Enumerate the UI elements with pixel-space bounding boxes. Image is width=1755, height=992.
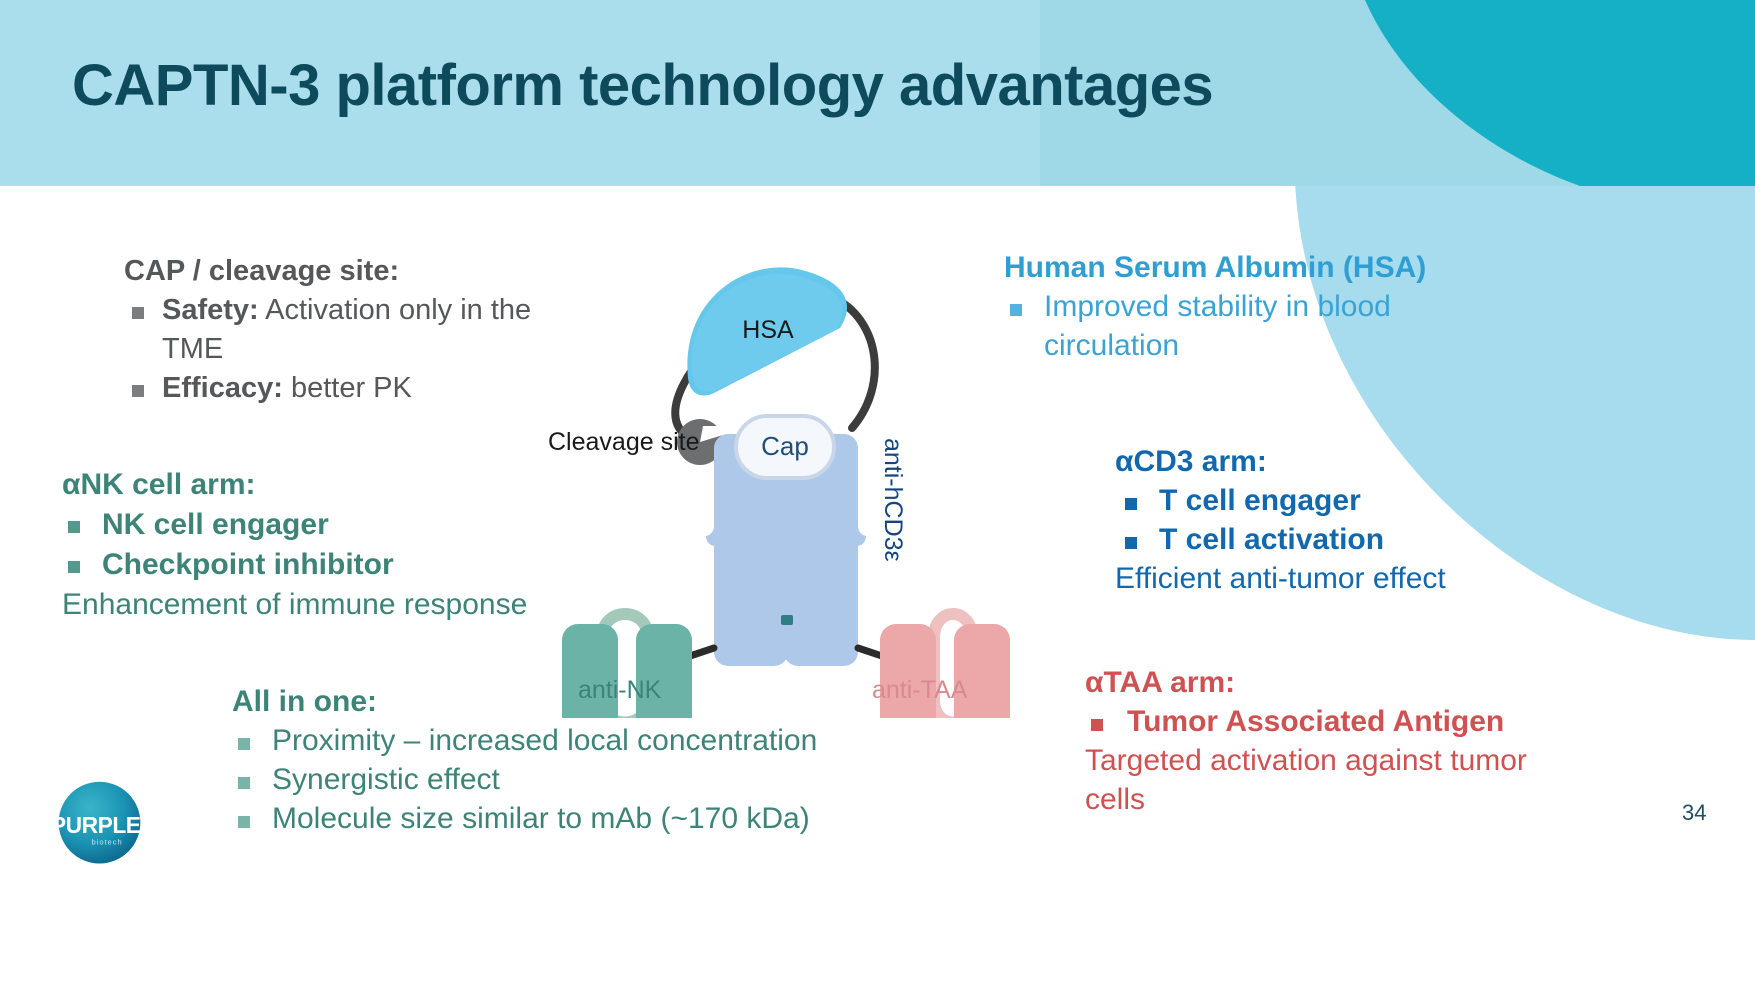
taa-heading-alpha: α	[1085, 666, 1103, 699]
taa-heading-text: TAA arm:	[1103, 666, 1235, 699]
list-item: Checkpoint inhibitor	[62, 545, 532, 585]
nk-heading: αNK cell arm:	[62, 465, 532, 505]
logo-wordmark: PURPLE	[52, 812, 141, 838]
taa-bullet-0: Tumor Associated Antigen	[1127, 705, 1504, 738]
taa-footer: Targeted activation against tumor cells	[1085, 741, 1555, 819]
anti-nk-arm-block: αNK cell arm: NK cell engager Checkpoint…	[62, 465, 532, 625]
nk-bullet-0: NK cell engager	[102, 508, 329, 541]
bullet-square-icon	[238, 777, 250, 789]
nk-bullet-list: NK cell engager Checkpoint inhibitor	[62, 505, 532, 585]
bullet-square-icon	[1010, 304, 1022, 316]
cd3-bullet-1: T cell activation	[1159, 523, 1384, 556]
list-item: Synergistic effect	[232, 760, 912, 799]
hsa-bullet-list: Improved stability in blood circulation	[1004, 287, 1474, 365]
list-item: Safety: Activation only in the TME	[124, 291, 554, 369]
anti-cd3-arm-block: αCD3 arm: T cell engager T cell activati…	[1115, 442, 1585, 598]
bullet-square-icon	[238, 738, 250, 750]
bullet-square-icon	[1091, 719, 1103, 731]
bullet-square-icon	[132, 307, 144, 319]
cd3-heading-text: CD3 arm:	[1133, 445, 1266, 478]
slide-root: CAPTN-3 platform technology advantages C…	[0, 0, 1755, 992]
page-number: 34	[1682, 800, 1706, 826]
list-item: T cell engager	[1115, 481, 1585, 520]
cap-bullet-1-bold: Efficacy:	[162, 372, 283, 404]
page-title: CAPTN-3 platform technology advantages	[72, 52, 1213, 119]
cd3-bullet-0: T cell engager	[1159, 484, 1361, 517]
nk-heading-alpha: α	[62, 468, 80, 501]
cap-label: Cap	[761, 431, 809, 461]
list-item: NK cell engager	[62, 505, 532, 545]
taa-bullet-list: Tumor Associated Antigen	[1085, 702, 1555, 741]
nk-footer: Enhancement of immune response	[62, 585, 532, 625]
purple-biotech-logo: PURPLE biotech	[52, 778, 147, 873]
taa-heading: αTAA arm:	[1085, 663, 1555, 702]
bullet-square-icon	[132, 385, 144, 397]
logo-tagline: biotech	[92, 838, 123, 847]
bullet-square-icon	[1125, 498, 1137, 510]
cap-bullet-list: Safety: Activation only in the TME Effic…	[124, 291, 554, 408]
list-item: Proximity – increased local concentratio…	[232, 721, 912, 760]
hsa-heading: Human Serum Albumin (HSA)	[1004, 248, 1474, 287]
cd3-footer: Efficient anti-tumor effect	[1115, 559, 1585, 598]
cd3-heading-alpha: α	[1115, 445, 1133, 478]
anti-cd3-label: anti-hCD3ε	[879, 438, 907, 562]
cd3-bullet-list: T cell engager T cell activation	[1115, 481, 1585, 559]
anti-taa-arm-block: αTAA arm: Tumor Associated Antigen Targe…	[1085, 663, 1555, 819]
list-item: Efficacy: better PK	[124, 369, 554, 408]
list-item: Molecule size similar to mAb (~170 kDa)	[232, 799, 912, 838]
nk-bullet-1: Checkpoint inhibitor	[102, 548, 394, 581]
captn3-molecule-diagram: HSA Cap anti-hCD3ε	[540, 238, 1010, 718]
anti-nk-caption: anti-NK	[578, 676, 661, 705]
allinone-bullet-1: Synergistic effect	[272, 763, 500, 796]
header-band: CAPTN-3 platform technology advantages	[0, 0, 1755, 186]
bullet-square-icon	[1125, 537, 1137, 549]
cap-bullet-1-rest: better PK	[283, 372, 412, 404]
hsa-block: Human Serum Albumin (HSA) Improved stabi…	[1004, 248, 1474, 365]
allinone-bullet-0: Proximity – increased local concentratio…	[272, 724, 817, 757]
cap-bullet-0-bold: Safety:	[162, 294, 259, 326]
bullet-square-icon	[68, 521, 80, 533]
allinone-bullet-2: Molecule size similar to mAb (~170 kDa)	[272, 802, 810, 835]
cleavage-site-label: Cleavage site	[548, 428, 699, 456]
hinge-connector	[781, 615, 793, 625]
anti-taa-caption: anti-TAA	[872, 676, 967, 705]
hsa-bullet-0: Improved stability in blood circulation	[1044, 290, 1391, 362]
list-item: T cell activation	[1115, 520, 1585, 559]
bullet-square-icon	[238, 816, 250, 828]
allinone-bullet-list: Proximity – increased local concentratio…	[232, 721, 912, 838]
cap-cleavage-block: CAP / cleavage site: Safety: Activation …	[124, 252, 554, 409]
nk-heading-text: NK cell arm:	[80, 468, 255, 501]
bullet-square-icon	[68, 561, 80, 573]
cap-heading: CAP / cleavage site:	[124, 252, 554, 291]
hsa-label: HSA	[742, 316, 794, 344]
cap-badge: Cap	[736, 416, 834, 478]
list-item: Tumor Associated Antigen	[1085, 702, 1555, 741]
list-item: Improved stability in blood circulation	[1004, 287, 1474, 365]
cd3-heading: αCD3 arm:	[1115, 442, 1585, 481]
